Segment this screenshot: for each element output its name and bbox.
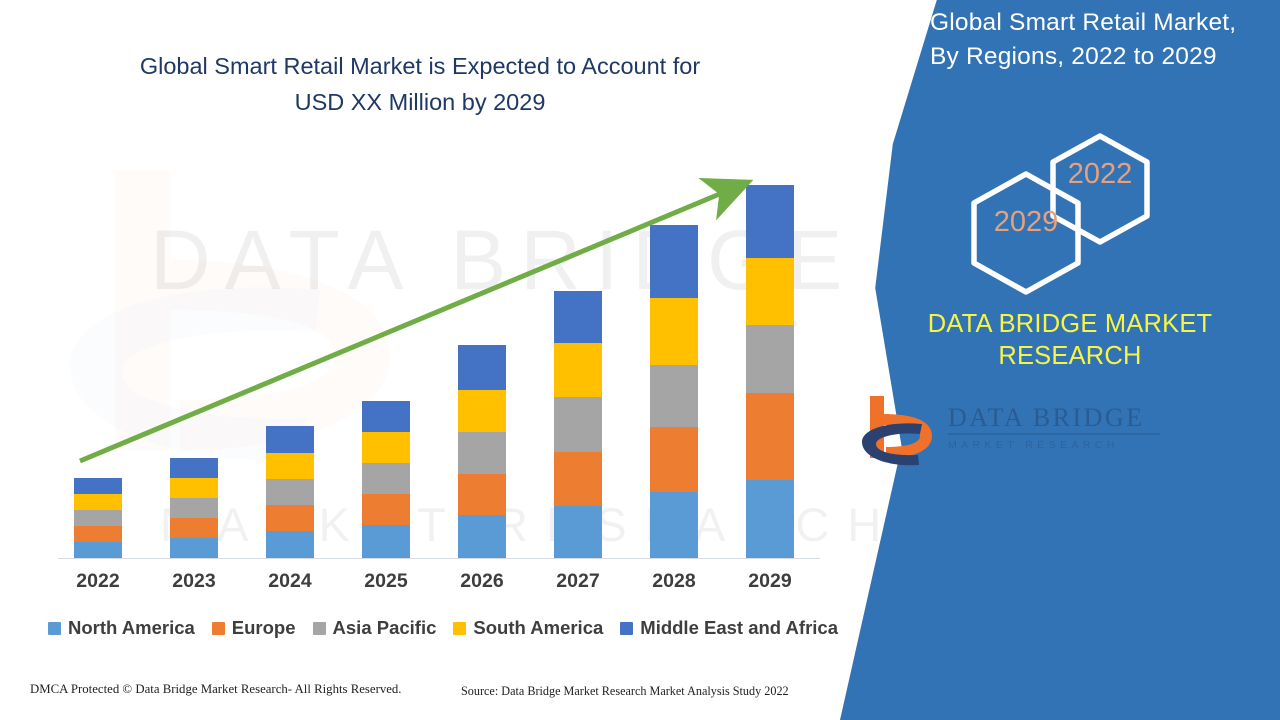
bar-segment-2029-north-america[interactable]: [746, 480, 794, 558]
bar-segment-2025-north-america[interactable]: [362, 525, 410, 558]
right-panel-title: Global Smart Retail Market, By Regions, …: [930, 6, 1260, 74]
bar-segment-2027-asia-pacific[interactable]: [554, 397, 602, 452]
legend-item-middle-east-and-africa[interactable]: Middle East and Africa: [620, 617, 838, 639]
x-axis-label-2025: 2025: [341, 570, 431, 593]
x-axis-label-2027: 2027: [533, 570, 623, 593]
bar-segment-2028-south-america[interactable]: [650, 298, 698, 365]
bar-segment-2024-europe[interactable]: [266, 505, 314, 531]
hexagon-badges: 2022 2029: [840, 128, 1280, 288]
bar-2023[interactable]: [170, 458, 218, 558]
x-axis-label-2029: 2029: [725, 570, 815, 593]
bar-segment-2028-europe[interactable]: [650, 427, 698, 492]
x-axis-label-2023: 2023: [149, 570, 239, 593]
chart-legend: North AmericaEuropeAsia PacificSouth Ame…: [48, 616, 848, 640]
bar-2029[interactable]: [746, 185, 794, 558]
dbmr-logo: DATA BRIDGE MARKET RESEARCH: [860, 388, 1260, 478]
dbmr-logo-text: DATA BRIDGE MARKET RESEARCH: [948, 404, 1248, 453]
brand-name-line1: DATA BRIDGE MARKET: [880, 308, 1260, 340]
legend-label: North America: [68, 617, 195, 639]
bar-segment-2028-asia-pacific[interactable]: [650, 365, 698, 427]
bar-2026[interactable]: [458, 345, 506, 558]
bar-segment-2023-europe[interactable]: [170, 518, 218, 538]
dbmr-logo-title: DATA BRIDGE: [948, 404, 1248, 432]
bar-segment-2023-asia-pacific[interactable]: [170, 498, 218, 518]
infographic-slide: DATA BRIDGE MARKET RESEARCH Global Smart…: [0, 0, 1280, 720]
legend-label: Asia Pacific: [333, 617, 437, 639]
bar-segment-2029-asia-pacific[interactable]: [746, 325, 794, 393]
bar-2027[interactable]: [554, 291, 602, 558]
bar-segment-2027-europe[interactable]: [554, 452, 602, 506]
bar-segment-2023-south-america[interactable]: [170, 478, 218, 498]
legend-swatch-icon: [453, 622, 466, 635]
bar-segment-2022-north-america[interactable]: [74, 542, 122, 558]
bar-2022[interactable]: [74, 478, 122, 558]
bar-segment-2022-asia-pacific[interactable]: [74, 510, 122, 526]
bar-segment-2022-south-america[interactable]: [74, 494, 122, 510]
dbmr-logo-divider: [948, 433, 1160, 435]
legend-swatch-icon: [313, 622, 326, 635]
bar-segment-2025-middle-east-and-africa[interactable]: [362, 401, 410, 432]
legend-swatch-icon: [48, 622, 61, 635]
x-axis-labels: 20222023202420252026202720282029: [0, 570, 880, 600]
bar-segment-2026-asia-pacific[interactable]: [458, 432, 506, 474]
legend-item-south-america[interactable]: South America: [453, 617, 603, 639]
bar-segment-2023-north-america[interactable]: [170, 538, 218, 558]
x-axis-label-2022: 2022: [53, 570, 143, 593]
bar-segment-2026-europe[interactable]: [458, 474, 506, 515]
legend-label: Europe: [232, 617, 296, 639]
right-panel-title-line2: By Regions, 2022 to 2029: [930, 40, 1260, 74]
bar-segment-2023-middle-east-and-africa[interactable]: [170, 458, 218, 478]
bar-segment-2029-europe[interactable]: [746, 393, 794, 480]
bar-segment-2024-south-america[interactable]: [266, 453, 314, 479]
right-panel-title-line1: Global Smart Retail Market,: [930, 6, 1260, 40]
footer-source: Source: Data Bridge Market Research Mark…: [461, 684, 789, 699]
bar-segment-2029-south-america[interactable]: [746, 258, 794, 325]
footer-copyright: DMCA Protected © Data Bridge Market Rese…: [30, 682, 402, 697]
legend-item-north-america[interactable]: North America: [48, 617, 195, 639]
bar-segment-2022-europe[interactable]: [74, 526, 122, 542]
x-axis-label-2028: 2028: [629, 570, 719, 593]
bar-2024[interactable]: [266, 426, 314, 558]
hexagon-badge-2029-label: 2029: [965, 206, 1087, 239]
bar-segment-2026-south-america[interactable]: [458, 390, 506, 432]
legend-label: South America: [473, 617, 603, 639]
bar-segment-2026-north-america[interactable]: [458, 515, 506, 558]
right-panel: Global Smart Retail Market, By Regions, …: [840, 0, 1280, 720]
bar-segment-2024-asia-pacific[interactable]: [266, 479, 314, 505]
bar-segment-2025-south-america[interactable]: [362, 432, 410, 463]
x-axis-label-2026: 2026: [437, 570, 527, 593]
bar-2028[interactable]: [650, 225, 698, 558]
brand-name: DATA BRIDGE MARKET RESEARCH: [880, 308, 1260, 372]
bar-segment-2022-middle-east-and-africa[interactable]: [74, 478, 122, 494]
bar-segment-2027-middle-east-and-africa[interactable]: [554, 291, 602, 343]
bar-segment-2025-europe[interactable]: [362, 494, 410, 525]
bar-segment-2024-north-america[interactable]: [266, 531, 314, 558]
chart-plot-area: [0, 0, 880, 720]
x-axis-line: [58, 558, 820, 559]
bar-segment-2025-asia-pacific[interactable]: [362, 463, 410, 494]
x-axis-label-2024: 2024: [245, 570, 335, 593]
legend-swatch-icon: [620, 622, 633, 635]
bar-segment-2027-south-america[interactable]: [554, 343, 602, 397]
hexagon-badge-2029: 2029: [965, 168, 1087, 298]
brand-name-line2: RESEARCH: [880, 340, 1260, 372]
legend-item-europe[interactable]: Europe: [212, 617, 296, 639]
bar-segment-2024-middle-east-and-africa[interactable]: [266, 426, 314, 453]
dbmr-logo-icon: [860, 392, 940, 466]
dbmr-logo-subtitle: MARKET RESEARCH: [948, 437, 1248, 453]
bar-segment-2029-middle-east-and-africa[interactable]: [746, 185, 794, 258]
legend-item-asia-pacific[interactable]: Asia Pacific: [313, 617, 437, 639]
bar-segment-2027-north-america[interactable]: [554, 506, 602, 558]
bar-segment-2028-north-america[interactable]: [650, 492, 698, 558]
bar-segment-2028-middle-east-and-africa[interactable]: [650, 225, 698, 298]
bar-2025[interactable]: [362, 401, 410, 558]
bar-segment-2026-middle-east-and-africa[interactable]: [458, 345, 506, 390]
legend-swatch-icon: [212, 622, 225, 635]
legend-label: Middle East and Africa: [640, 617, 838, 639]
